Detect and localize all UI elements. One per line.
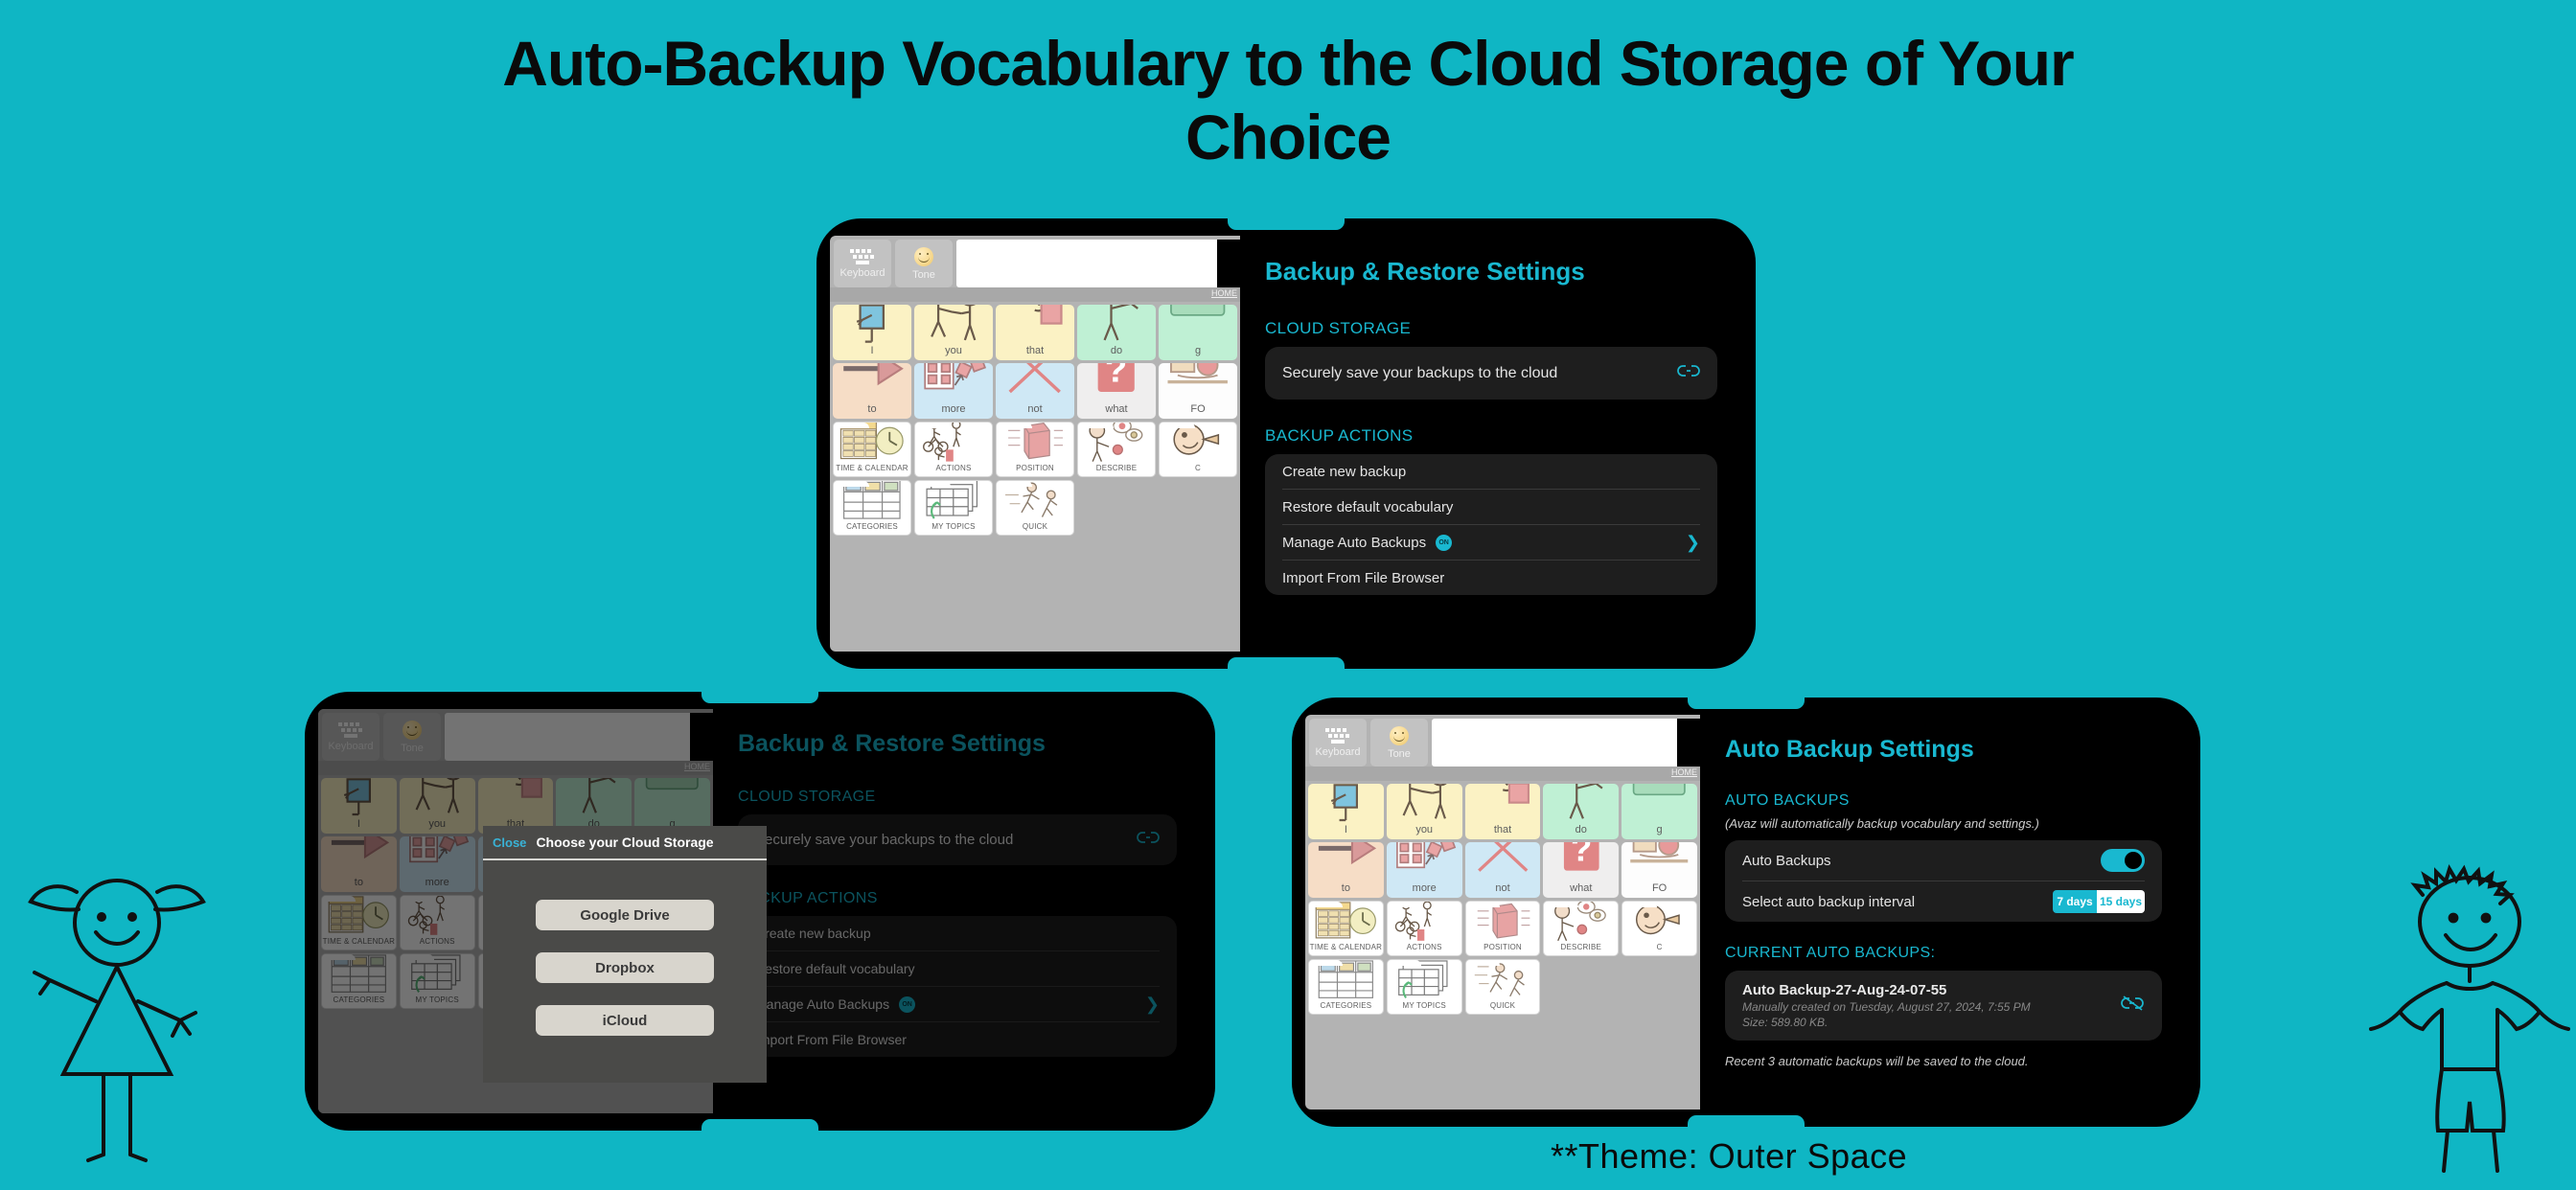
green-bar-icon xyxy=(1159,305,1237,346)
theme-note: **Theme: Outer Space xyxy=(1551,1136,1907,1177)
aac-cell-not[interactable]: not xyxy=(996,363,1074,419)
backup-action-import-from-file-browser[interactable]: Import From File Browser xyxy=(1282,561,1700,595)
current-auto-backups-header: CURRENT AUTO BACKUPS: xyxy=(1725,945,2162,962)
aac-cell-do[interactable]: do xyxy=(1543,784,1619,839)
stacked-boards-icon xyxy=(1388,959,1461,1002)
people-actions-icon xyxy=(915,422,992,465)
phone-notch xyxy=(701,692,818,703)
tone-button[interactable]: Tone xyxy=(895,240,953,287)
aac-cell-fo[interactable]: FO xyxy=(1621,842,1697,898)
home-label[interactable]: HOME xyxy=(1671,767,1697,777)
aac-cell-label: TIME & CALENDAR xyxy=(1310,944,1382,953)
calendar-clock-icon xyxy=(1309,901,1383,944)
aac-cell-label: to xyxy=(867,404,876,417)
cloud-storage-header: CLOUD STORAGE xyxy=(1265,319,1717,338)
aac-cell-label: I xyxy=(870,346,873,358)
aac-cell-not[interactable]: not xyxy=(1465,842,1541,898)
running-people-icon xyxy=(997,480,1073,523)
phone-notch-bottom xyxy=(1228,657,1345,669)
aac-cell-label: you xyxy=(1415,825,1433,837)
aac-cell-actions[interactable]: ACTIONS xyxy=(1387,901,1462,956)
aac-cell-position[interactable]: POSITION xyxy=(1465,901,1541,956)
aac-cell-label: what xyxy=(1570,883,1592,896)
backup-actions-header: BACKUP ACTIONS xyxy=(1265,426,1717,446)
aac-cell-label: more xyxy=(1413,883,1437,896)
grid-table-icon xyxy=(834,480,910,523)
aac-cell-my-topics[interactable]: MY TOPICS xyxy=(914,480,993,536)
backup-size: Size: 589.80 KB. xyxy=(1742,1016,2031,1029)
aac-vocabulary-grid: Keyboard Tone HOME Iyouthatdogtomorenot?… xyxy=(1305,715,1700,1110)
aac-cell-what[interactable]: ?what xyxy=(1077,363,1156,419)
tone-label: Tone xyxy=(1388,748,1411,760)
home-row: HOME xyxy=(830,287,1240,302)
question-mark-icon: ? xyxy=(1543,842,1619,883)
aac-vocabulary-grid: Keyboard Tone HOME Iyouthatdogtomorenot?… xyxy=(830,236,1240,652)
auto-backup-footnote: Recent 3 automatic backups will be saved… xyxy=(1725,1054,2162,1068)
aac-cell-label: you xyxy=(945,346,962,358)
dialog-header: Close Choose your Cloud Storage xyxy=(483,826,767,860)
backup-list-item[interactable]: Auto Backup-27-Aug-24-07-55 Manually cre… xyxy=(1725,971,2162,1041)
tone-button[interactable]: Tone xyxy=(1370,719,1428,767)
page-title: Auto-Backup Vocabulary to the Cloud Stor… xyxy=(425,27,2150,173)
phone-notch-bottom xyxy=(1688,1115,1805,1127)
aac-cell-my-topics[interactable]: MY TOPICS xyxy=(1387,959,1462,1015)
link-off-icon[interactable] xyxy=(2120,995,2145,1017)
aac-cell-label: ACTIONS xyxy=(1407,944,1442,953)
phone-screen: Keyboard Tone HOME Iyouthatdogtomorenot?… xyxy=(830,236,1742,652)
phone-mockup-auto-backup: Keyboard Tone HOME Iyouthatdogtomorenot?… xyxy=(1292,698,2200,1127)
aac-cell-label: CATEGORIES xyxy=(1320,1002,1371,1012)
phone-screen: Keyboard Tone HOME Iyouthatdogtomorenot?… xyxy=(318,709,1202,1113)
stick-figure-girl-icon xyxy=(21,867,213,1174)
svg-text:?: ? xyxy=(1571,842,1592,869)
aac-cell-categories[interactable]: CATEGORIES xyxy=(833,480,911,536)
person-arms-out-icon xyxy=(1077,305,1156,346)
aac-cell-label: POSITION xyxy=(1016,465,1054,474)
chevron-right-icon[interactable]: ❯ xyxy=(1686,533,1700,553)
aac-cell-label: do xyxy=(1575,825,1587,837)
settings-title: Backup & Restore Settings xyxy=(1265,257,1717,286)
aac-cell-label: that xyxy=(1026,346,1044,358)
people-actions-icon xyxy=(1388,901,1461,944)
auto-backup-settings-panel: Auto Backup Settings AUTO BACKUPS (Avaz … xyxy=(1700,715,2187,1110)
aac-cell-label: I xyxy=(1345,825,1347,837)
message-bar[interactable] xyxy=(1432,719,1700,767)
running-people-icon xyxy=(1466,959,1540,1002)
calendar-clock-icon xyxy=(834,422,910,465)
close-button[interactable]: Close xyxy=(493,835,526,850)
aac-cell-label: POSITION xyxy=(1483,944,1522,953)
aac-cell-categories[interactable]: CATEGORIES xyxy=(1308,959,1384,1015)
home-label[interactable]: HOME xyxy=(1211,288,1237,298)
aac-cell-label: FO xyxy=(1652,883,1667,896)
backup-action-label: Manage Auto Backups xyxy=(1282,535,1426,551)
aac-cell-describe[interactable]: DESCRIBE xyxy=(1543,901,1619,956)
cloud-option-google-drive[interactable]: Google Drive xyxy=(536,900,714,930)
aac-cell-do[interactable]: do xyxy=(1077,305,1156,360)
person-pointing-self-icon xyxy=(1308,784,1384,825)
phone-notch-bottom xyxy=(701,1119,818,1131)
food-plate-icon xyxy=(1159,363,1237,404)
aac-cell-label: what xyxy=(1105,404,1127,417)
interval-option-7-days[interactable]: 7 days xyxy=(2053,890,2097,913)
cloud-storage-card[interactable]: Securely save your backups to the cloud xyxy=(1265,347,1717,400)
aac-cell-label: FO xyxy=(1190,404,1205,417)
backup-meta: Manually created on Tuesday, August 27, … xyxy=(1742,1000,2031,1014)
keyboard-label: Keyboard xyxy=(1315,746,1360,758)
aac-cell-time-calendar[interactable]: TIME & CALENDAR xyxy=(833,422,911,477)
hand-pointing-square-icon xyxy=(996,305,1074,346)
aac-cell-label: not xyxy=(1495,883,1509,896)
auto-backups-card: Auto Backups Select auto backup interval… xyxy=(1725,840,2162,922)
interval-segmented-control[interactable]: 7 days 15 days xyxy=(2053,890,2145,913)
auto-backups-subtext: (Avaz will automatically backup vocabula… xyxy=(1725,816,2162,831)
poster-canvas: Auto-Backup Vocabulary to the Cloud Stor… xyxy=(0,0,2576,1190)
aac-toolbar: Keyboard Tone xyxy=(830,236,1240,287)
dialog-options: Google DriveDropboxiCloud xyxy=(483,860,767,1083)
aac-cell-label: TIME & CALENDAR xyxy=(836,465,908,474)
cloud-option-icloud[interactable]: iCloud xyxy=(536,1005,714,1036)
phone-mockup-backup-restore: Keyboard Tone HOME Iyouthatdogtomorenot?… xyxy=(816,218,1756,669)
link-icon[interactable] xyxy=(1677,363,1700,383)
aac-cell-label: C xyxy=(1657,944,1663,953)
aac-cell-label: QUICK xyxy=(1490,1002,1515,1012)
phone-notch xyxy=(1688,698,1805,709)
auto-backups-toggle-row[interactable]: Auto Backups xyxy=(1742,840,2145,881)
aac-cell-label: MY TOPICS xyxy=(931,523,975,533)
aac-cell-actions[interactable]: ACTIONS xyxy=(914,422,993,477)
aac-cell-label: QUICK xyxy=(1023,523,1047,533)
backup-restore-settings-panel: Backup & Restore Settings CLOUD STORAGE … xyxy=(1240,236,1742,652)
smiley-face-icon xyxy=(914,247,933,266)
aac-cell-i[interactable]: I xyxy=(833,305,911,360)
toggle-knob xyxy=(2125,852,2142,869)
aac-cell-position[interactable]: POSITION xyxy=(996,422,1074,477)
aac-cell-to[interactable]: to xyxy=(833,363,911,419)
blocks-more-icon xyxy=(1387,842,1462,883)
aac-cell-g[interactable]: g xyxy=(1621,784,1697,839)
cloud-storage-dialog: Close Choose your Cloud Storage Google D… xyxy=(483,826,767,1083)
aac-cell-label: that xyxy=(1494,825,1511,837)
aac-cell-to[interactable]: to xyxy=(1308,842,1384,898)
backup-action-label: Restore default vocabulary xyxy=(1282,499,1453,515)
keyboard-label: Keyboard xyxy=(839,267,885,279)
aac-cell-quick[interactable]: QUICK xyxy=(1465,959,1541,1015)
green-bar-icon xyxy=(1621,784,1697,825)
backup-action-restore-default-vocabulary[interactable]: Restore default vocabulary xyxy=(1282,490,1700,524)
aac-cell-that[interactable]: that xyxy=(1465,784,1541,839)
hand-pointing-square-icon xyxy=(1465,784,1541,825)
two-people-pointing-icon xyxy=(914,305,993,346)
food-plate-icon xyxy=(1621,842,1697,883)
message-bar[interactable] xyxy=(956,240,1240,287)
interval-label: Select auto backup interval xyxy=(1742,894,1915,910)
aac-cell-you[interactable]: you xyxy=(914,305,993,360)
backup-name: Auto Backup-27-Aug-24-07-55 xyxy=(1742,982,2031,998)
two-people-pointing-icon xyxy=(1387,784,1462,825)
aac-cell-label: C xyxy=(1195,465,1201,474)
aac-toolbar: Keyboard Tone xyxy=(1305,715,1700,767)
person-describing-icon xyxy=(1078,422,1155,465)
svg-text:?: ? xyxy=(1105,363,1127,390)
home-row: HOME xyxy=(1305,767,1700,781)
auto-backups-toggle-label: Auto Backups xyxy=(1742,853,1831,869)
aac-cell-label: more xyxy=(941,404,965,417)
aac-cell-label: ACTIONS xyxy=(936,465,972,474)
backup-action-label: Create new backup xyxy=(1282,464,1406,480)
aac-cell-that[interactable]: that xyxy=(996,305,1074,360)
aac-cell-what[interactable]: ?what xyxy=(1543,842,1619,898)
keyboard-icon xyxy=(1325,728,1350,744)
aac-cell-c[interactable]: C xyxy=(1621,901,1697,956)
backup-action-label: Import From File Browser xyxy=(1282,570,1444,586)
right-arrow-icon xyxy=(1308,842,1384,883)
tone-label: Tone xyxy=(912,269,935,281)
aac-cell-label: g xyxy=(1657,825,1663,837)
phone-mockup-cloud-dialog: Keyboard Tone HOME Iyouthatdogtomorenot?… xyxy=(305,692,1215,1131)
aac-cell-more[interactable]: more xyxy=(1387,842,1462,898)
right-arrow-icon xyxy=(833,363,911,404)
grid-table-icon xyxy=(1309,959,1383,1002)
aac-cell-i[interactable]: I xyxy=(1308,784,1384,839)
keyboard-icon xyxy=(850,249,875,264)
auto-backups-toggle[interactable] xyxy=(2101,849,2145,872)
interval-option-15-days[interactable]: 15 days xyxy=(2097,890,2145,913)
phone-screen: Keyboard Tone HOME Iyouthatdogtomorenot?… xyxy=(1305,715,2187,1110)
smiley-face-icon xyxy=(1390,726,1409,745)
aac-cell-describe[interactable]: DESCRIBE xyxy=(1077,422,1156,477)
aac-cell-label: MY TOPICS xyxy=(1403,1002,1446,1012)
stick-figure-boy-icon xyxy=(2367,862,2573,1174)
aac-cell-more[interactable]: more xyxy=(914,363,993,419)
keyboard-button[interactable]: Keyboard xyxy=(1309,719,1367,767)
face-icon xyxy=(1160,422,1236,465)
keyboard-button[interactable]: Keyboard xyxy=(834,240,891,287)
aac-cell-label: DESCRIBE xyxy=(1096,465,1138,474)
aac-cell-grid: Iyouthatdogtomorenot?whatFOTIME & CALEND… xyxy=(1305,781,1700,1018)
dialog-title: Choose your Cloud Storage xyxy=(536,835,713,850)
aac-cell-fo[interactable]: FO xyxy=(1159,363,1237,419)
cloud-storage-label: Securely save your backups to the cloud xyxy=(1282,365,1557,382)
person-pointing-self-icon xyxy=(833,305,911,346)
backup-action-create-new-backup[interactable]: Create new backup xyxy=(1282,454,1700,489)
backup-actions-card: Create new backupRestore default vocabul… xyxy=(1265,454,1717,595)
aac-cell-label: g xyxy=(1195,346,1201,358)
aac-cell-time-calendar[interactable]: TIME & CALENDAR xyxy=(1308,901,1384,956)
red-cross-out-icon xyxy=(1465,842,1541,883)
aac-cell-label: do xyxy=(1111,346,1122,358)
blocks-more-icon xyxy=(914,363,993,404)
box-position-icon xyxy=(997,422,1073,465)
aac-cell-quick[interactable]: QUICK xyxy=(996,480,1074,536)
settings-title: Auto Backup Settings xyxy=(1725,736,2162,764)
aac-cell-label: DESCRIBE xyxy=(1561,944,1602,953)
cloud-option-dropbox[interactable]: Dropbox xyxy=(536,952,714,983)
aac-cell-label: CATEGORIES xyxy=(846,523,898,533)
box-position-icon xyxy=(1466,901,1540,944)
aac-cell-grid: Iyouthatdogtomorenot?whatFOTIME & CALEND… xyxy=(830,302,1240,538)
backup-action-manage-auto-backups[interactable]: Manage Auto BackupsON❯ xyxy=(1282,525,1700,560)
aac-cell-you[interactable]: you xyxy=(1387,784,1462,839)
face-icon xyxy=(1622,901,1696,944)
auto-backups-header: AUTO BACKUPS xyxy=(1725,792,2162,810)
aac-cell-c[interactable]: C xyxy=(1159,422,1237,477)
aac-cell-label: to xyxy=(1342,883,1350,896)
on-badge: ON xyxy=(1436,535,1452,551)
question-mark-icon: ? xyxy=(1077,363,1156,404)
person-describing-icon xyxy=(1544,901,1618,944)
stacked-boards-icon xyxy=(915,480,992,523)
person-arms-out-icon xyxy=(1543,784,1619,825)
interval-row[interactable]: Select auto backup interval 7 days 15 da… xyxy=(1742,881,2145,922)
phone-notch xyxy=(1228,218,1345,230)
aac-cell-label: not xyxy=(1027,404,1042,417)
aac-cell-g[interactable]: g xyxy=(1159,305,1237,360)
red-cross-out-icon xyxy=(996,363,1074,404)
